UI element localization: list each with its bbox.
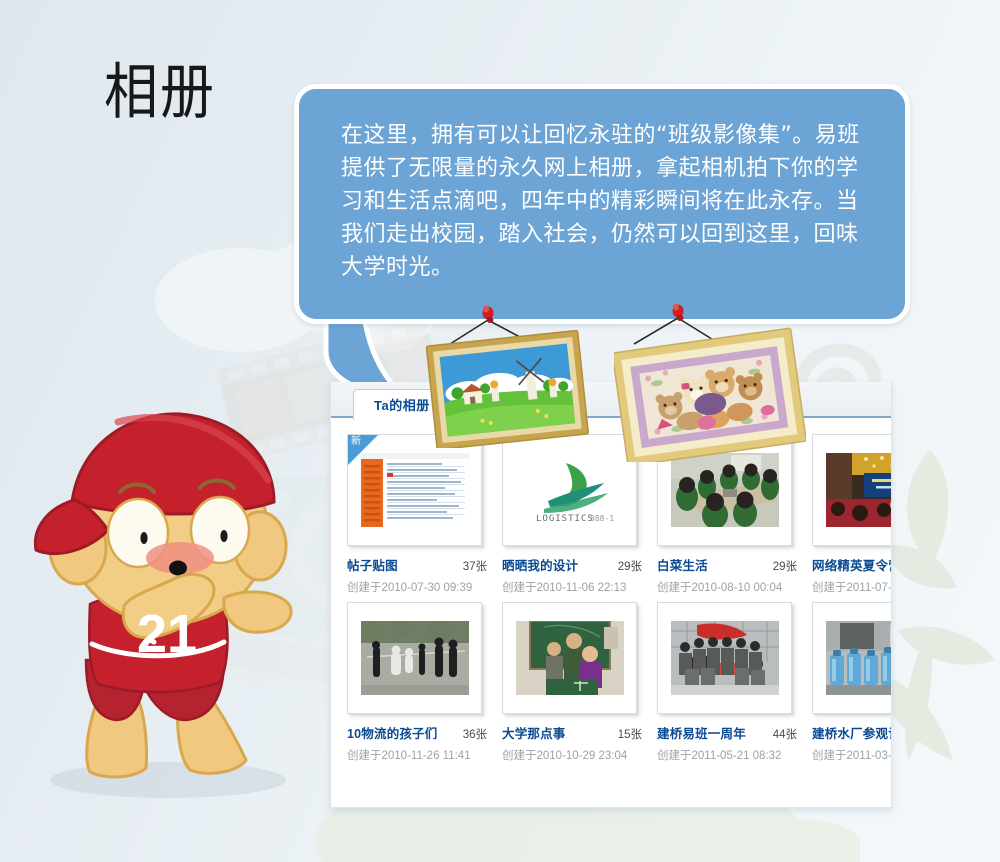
album-card[interactable]: 网络精英夏令营 创建于2011-07-2 <box>812 434 892 602</box>
album-meta: 10物流的孩子们 36张 创建于2010-11-26 11:41 <box>347 723 487 763</box>
album-thumbnail[interactable] <box>657 602 792 714</box>
intro-text: 在这里，拥有可以让回忆永驻的“班级影像集”。易班提供了无限量的永久网上相册，拿起… <box>341 119 879 284</box>
album-created-date: 创建于2011-05-21 08:32 <box>657 747 797 763</box>
album-card[interactable]: 10物流的孩子们 36张 创建于2010-11-26 11:41 <box>347 602 502 770</box>
album-title[interactable]: 建桥水厂参观记 <box>812 723 892 742</box>
album-meta: 帖子贴图 37张 创建于2010-07-30 09:39 <box>347 555 487 595</box>
page-title: 相册 <box>104 62 216 122</box>
album-meta: 建桥易班一周年 44张 创建于2011-05-21 08:32 <box>657 723 797 763</box>
album-meta: 晒晒我的设计 29张 创建于2010-11-06 22:13 <box>502 555 642 595</box>
album-card[interactable]: 新 <box>347 434 502 602</box>
album-title[interactable]: 建桥易班一周年 <box>657 723 746 742</box>
album-grid: 新 <box>331 418 891 770</box>
album-title[interactable]: 网络精英夏令营 <box>812 555 892 574</box>
album-title[interactable]: 10物流的孩子们 <box>347 723 438 742</box>
album-panel: Ta的相册 新 <box>330 382 892 808</box>
album-photo-count: 29张 <box>610 558 642 574</box>
new-badge-icon <box>348 435 378 465</box>
album-photo-count: 36张 <box>455 726 487 742</box>
album-thumbnail[interactable]: 新 <box>347 434 482 546</box>
album-page: 相册 在这里，拥有可以让回忆永驻的“班级影像集”。易班提供了无限量的永久网上相册… <box>0 0 1000 862</box>
album-created-date: 创建于2010-11-26 11:41 <box>347 747 487 763</box>
tug-of-war-photo-image <box>361 621 469 695</box>
album-title[interactable]: 白菜生活 <box>657 555 708 574</box>
album-meta: 大学那点事 15张 创建于2010-10-29 23:04 <box>502 723 642 763</box>
mascot-jersey-number: 21 <box>137 604 197 664</box>
album-created-date: 创建于2011-03-3 <box>812 747 892 763</box>
album-thumbnail[interactable] <box>812 434 892 546</box>
windmill-landscape-painting <box>424 300 592 448</box>
album-photo-count: 44张 <box>765 726 797 742</box>
svg-text:088-1: 088-1 <box>590 514 614 523</box>
classroom-group-photo-image <box>671 453 779 527</box>
conference-hall-photo-image <box>826 453 893 527</box>
panel-header: Ta的相册 <box>331 382 891 418</box>
album-meta: 建桥水厂参观记 创建于2011-03-3 <box>812 723 892 763</box>
album-created-date: 创建于2010-08-10 00:04 <box>657 579 797 595</box>
intro-speech-bubble: 在这里，拥有可以让回忆永驻的“班级影像集”。易班提供了无限量的永久网上相册，拿起… <box>294 84 910 324</box>
teddy-bears-cross-stitch <box>614 300 806 462</box>
album-card[interactable]: 建桥易班一周年 44张 创建于2011-05-21 08:32 <box>657 602 812 770</box>
album-title[interactable]: 晒晒我的设计 <box>502 555 578 574</box>
album-created-date: 创建于2010-10-29 23:04 <box>502 747 642 763</box>
album-created-date: 创建于2010-07-30 09:39 <box>347 579 487 595</box>
speech-bubble-body: 在这里，拥有可以让回忆永驻的“班级影像集”。易班提供了无限量的永久网上相册，拿起… <box>294 84 910 324</box>
album-photo-count: 15张 <box>610 726 642 742</box>
album-photo-count: 29张 <box>765 558 797 574</box>
album-title[interactable]: 帖子贴图 <box>347 555 398 574</box>
album-meta: 白菜生活 29张 创建于2010-08-10 00:04 <box>657 555 797 595</box>
album-created-date: 创建于2010-11-06 22:13 <box>502 579 642 595</box>
album-photo-count: 37张 <box>455 558 487 574</box>
yiban-bear-mascot: 21 <box>28 398 313 802</box>
album-thumbnail[interactable] <box>502 602 637 714</box>
logistics-logo-image: LOGISTICS 088-1 <box>516 453 624 527</box>
blackboard-students-photo-image <box>516 621 624 695</box>
album-created-date: 创建于2011-07-2 <box>812 579 892 595</box>
album-thumbnail[interactable] <box>347 602 482 714</box>
album-card[interactable]: 大学那点事 15张 创建于2010-10-29 23:04 <box>502 602 657 770</box>
album-title[interactable]: 大学那点事 <box>502 723 566 742</box>
group-banner-photo-image <box>671 621 779 695</box>
album-thumbnail[interactable] <box>812 602 892 714</box>
svg-text:LOGISTICS: LOGISTICS <box>536 514 594 524</box>
album-meta: 网络精英夏令营 创建于2011-07-2 <box>812 555 892 595</box>
water-plant-photo-image <box>826 621 893 695</box>
album-card[interactable]: 建桥水厂参观记 创建于2011-03-3 <box>812 602 892 770</box>
